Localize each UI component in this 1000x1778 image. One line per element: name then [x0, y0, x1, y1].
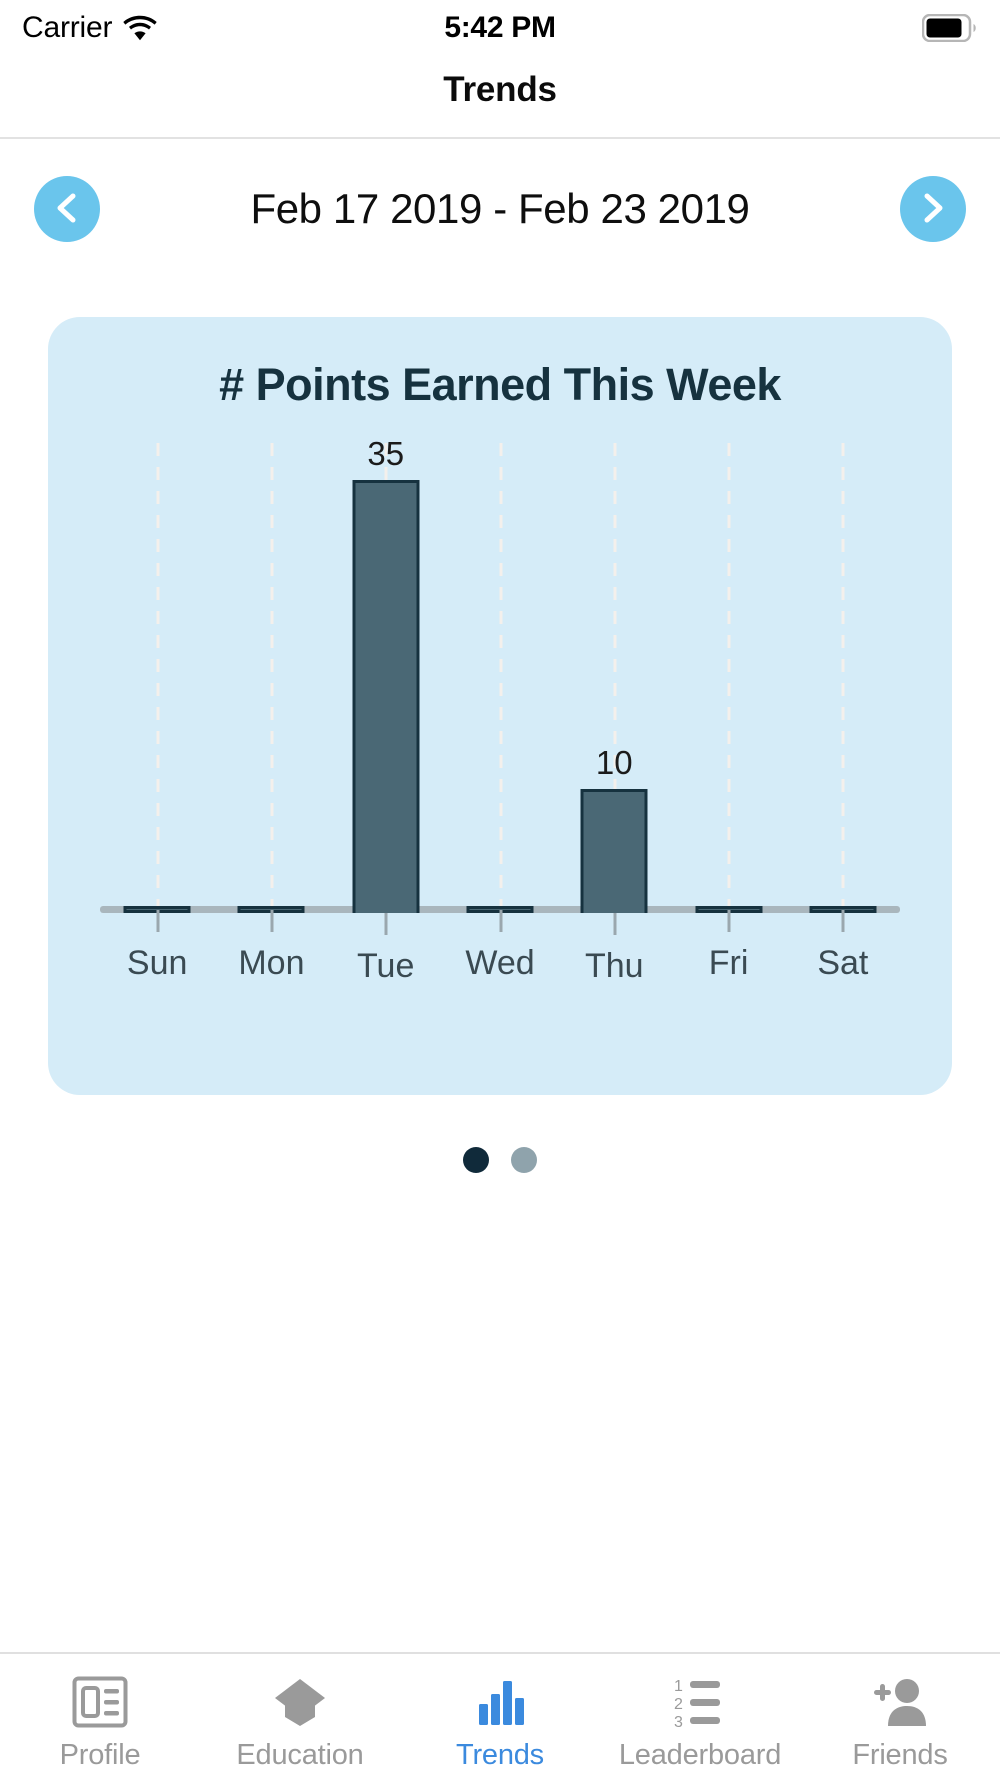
chevron-left-icon [52, 191, 82, 228]
chart-gridline [270, 443, 273, 913]
axis-tick [270, 910, 273, 932]
chart-card-wrapper: # Points Earned This Week SunMon35TueWed… [0, 279, 1000, 1095]
x-axis-label: Mon [238, 944, 304, 983]
page-dot[interactable] [463, 1147, 489, 1173]
chart-column: Wed [467, 443, 534, 913]
svg-text:3: 3 [674, 1714, 683, 1728]
chart-bar[interactable]: Mon [238, 906, 305, 913]
status-bar: Carrier 5:42 PM [0, 0, 1000, 56]
numbered-list-icon: 123 [672, 1673, 728, 1731]
axis-tick [499, 910, 502, 932]
svg-text:2: 2 [674, 1696, 683, 1713]
tab-profile[interactable]: Profile [0, 1654, 200, 1778]
add-person-icon [872, 1673, 928, 1731]
previous-week-button[interactable] [34, 176, 100, 242]
chart-bar[interactable]: 35Tue [352, 480, 419, 913]
id-card-icon [72, 1673, 128, 1731]
chart-columns: SunMon35TueWed10ThuFriSat [100, 443, 900, 913]
bar-value-label: 10 [596, 744, 633, 782]
tab-label: Profile [60, 1739, 141, 1772]
week-selector: Feb 17 2019 - Feb 23 2019 [0, 139, 1000, 279]
chart-bar[interactable]: Wed [467, 906, 534, 913]
content-spacer [0, 1173, 1000, 1652]
chart-column: Fri [695, 443, 762, 913]
svg-text:1: 1 [674, 1678, 683, 1695]
tab-label: Leaderboard [619, 1739, 781, 1772]
tab-education[interactable]: Education [200, 1654, 400, 1778]
axis-tick [156, 910, 159, 932]
tab-label: Friends [852, 1739, 947, 1772]
x-axis-label: Fri [709, 944, 749, 983]
next-week-button[interactable] [900, 176, 966, 242]
points-chart-card[interactable]: # Points Earned This Week SunMon35TueWed… [48, 317, 952, 1095]
chart-title: # Points Earned This Week [48, 359, 952, 411]
chart-bar[interactable]: Sun [124, 906, 191, 913]
chart-bar[interactable]: Sat [809, 906, 876, 913]
bar-chart-icon [472, 1673, 528, 1731]
axis-tick [385, 913, 388, 935]
chart-gridline [842, 443, 845, 913]
page-dot[interactable] [511, 1147, 537, 1173]
page-indicator [0, 1095, 1000, 1173]
tab-trends[interactable]: Trends [400, 1654, 600, 1778]
tab-bar: ProfileEducationTrends123LeaderboardFrie… [0, 1652, 1000, 1778]
chart-gridline [499, 443, 502, 913]
x-axis-label: Sat [817, 944, 868, 983]
tab-leaderboard[interactable]: 123Leaderboard [600, 1654, 800, 1778]
chart-column: 35Tue [352, 443, 419, 913]
x-axis-label: Thu [585, 947, 644, 986]
chart-bar[interactable]: Fri [695, 906, 762, 913]
app-screen: Carrier 5:42 PM Trends [0, 0, 1000, 1778]
axis-tick [728, 910, 731, 932]
graduation-cap-icon [272, 1673, 328, 1731]
chart-column: 10Thu [581, 443, 648, 913]
chart-gridline [728, 443, 731, 913]
bar-chart-plot: SunMon35TueWed10ThuFriSat [100, 421, 900, 1021]
chevron-right-icon [918, 191, 948, 228]
axis-tick [842, 910, 845, 932]
week-range-label: Feb 17 2019 - Feb 23 2019 [100, 185, 900, 233]
nav-bar: Trends [0, 56, 1000, 139]
axis-tick [613, 913, 616, 935]
tab-friends[interactable]: Friends [800, 1654, 1000, 1778]
x-axis-label: Tue [357, 947, 414, 986]
chart-gridline [156, 443, 159, 913]
chart-column: Sun [124, 443, 191, 913]
chart-column: Mon [238, 443, 305, 913]
page-title: Trends [443, 70, 557, 110]
tab-label: Education [236, 1739, 363, 1772]
chart-bar[interactable]: 10Thu [581, 789, 648, 913]
tab-label: Trends [456, 1739, 544, 1772]
status-bar-time: 5:42 PM [0, 11, 1000, 45]
bar-value-label: 35 [367, 435, 404, 473]
x-axis-label: Sun [127, 944, 188, 983]
chart-column: Sat [809, 443, 876, 913]
x-axis-label: Wed [465, 944, 534, 983]
